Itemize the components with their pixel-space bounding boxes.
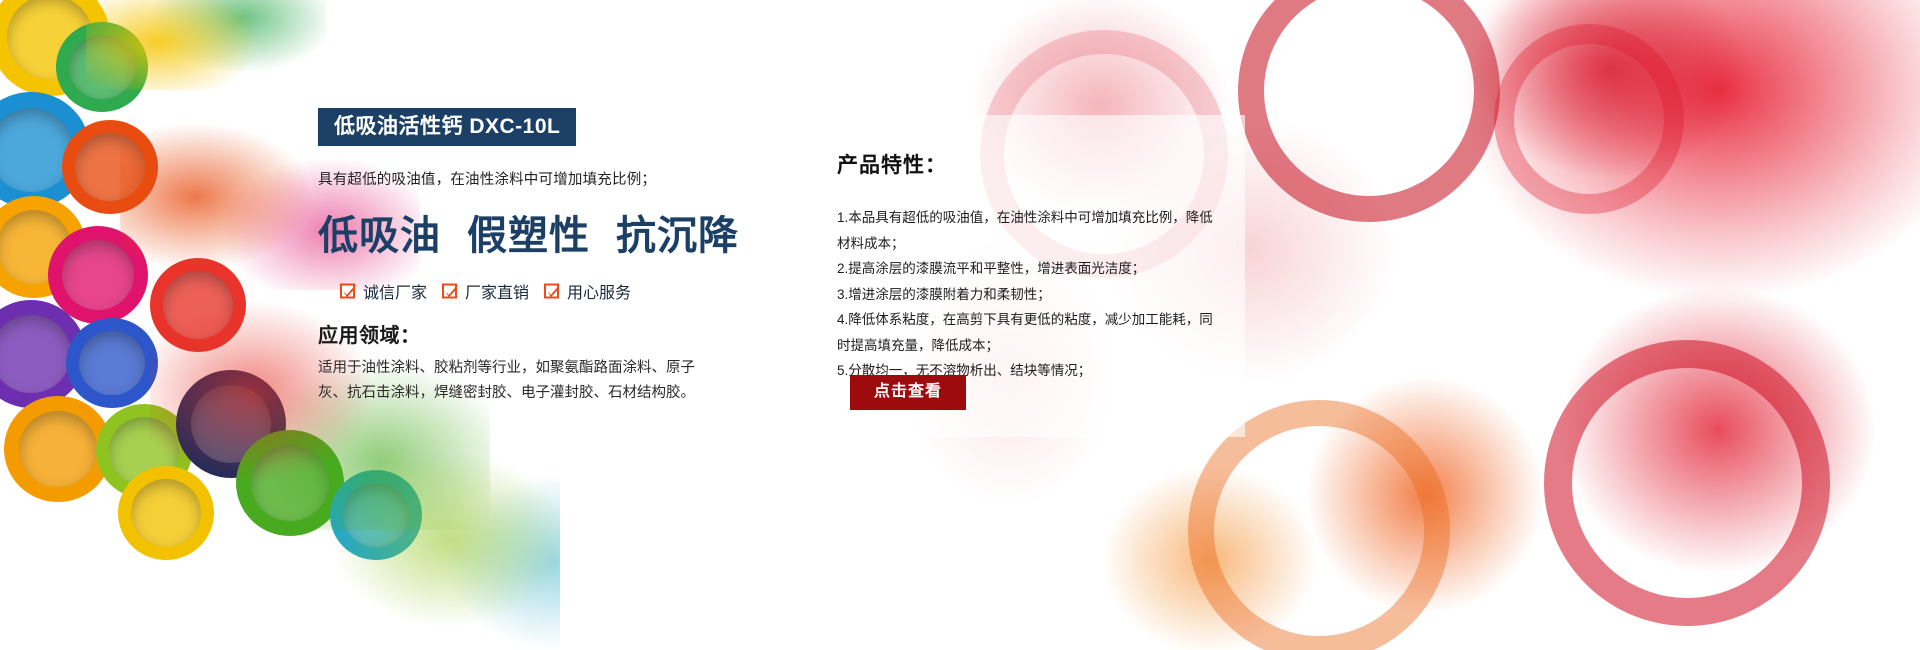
checkbox-checked-icon	[442, 283, 459, 300]
badge-item-3: 用心服务	[544, 279, 631, 303]
feature-item-4: 4.降低体系粘度，在高剪下具有更低的粘度，减少加工能耗，同时提高填充量，降低成本…	[837, 307, 1221, 358]
feature-item-1: 1.本品具有超低的吸油值，在油性涂料中可增加填充比例，降低材料成本；	[837, 205, 1221, 256]
keyword-3: 抗沉降	[616, 212, 739, 259]
product-banner: 低吸油活性钙 DXC-10L 具有超低的吸油值，在油性涂料中可增加填充比例； 低…	[0, 0, 1920, 650]
trust-badges: 诚信厂家 厂家直销 用心服务	[318, 279, 718, 303]
badge-label-2: 厂家直销	[465, 279, 529, 303]
banner-subtitle: 具有超低的吸油值，在油性涂料中可增加填充比例；	[318, 168, 718, 189]
badge-label-3: 用心服务	[567, 279, 631, 303]
feature-item-3: 3.增进涂层的漆膜附着力和柔韧性；	[837, 282, 1221, 308]
banner-text-block: 低吸油活性钙 DXC-10L 具有超低的吸油值，在油性涂料中可增加填充比例； 低…	[318, 108, 718, 406]
features-list: 1.本品具有超低的吸油值，在油性涂料中可增加填充比例，降低材料成本； 2.提高涂…	[837, 205, 1221, 384]
view-details-button[interactable]: 点击查看	[850, 375, 966, 410]
keyword-1: 低吸油	[318, 212, 441, 259]
checkbox-checked-icon	[544, 283, 561, 300]
feature-item-2: 2.提高涂层的漆膜流平和平整性，增进表面光洁度；	[837, 256, 1221, 282]
badge-label-1: 诚信厂家	[363, 279, 427, 303]
keyword-headline: 低吸油假塑性抗沉降	[318, 203, 718, 261]
application-description: 适用于油性涂料、胶粘剂等行业，如聚氨酯路面涂料、原子灰、抗石击涂料，焊缝密封胶、…	[318, 356, 718, 406]
keyword-2: 假塑性	[467, 212, 590, 259]
badge-item-1: 诚信厂家	[340, 279, 427, 303]
application-heading: 应用领域：	[318, 319, 718, 348]
features-title: 产品特性：	[837, 149, 1221, 179]
badge-item-2: 厂家直销	[442, 279, 529, 303]
product-title-tag: 低吸油活性钙 DXC-10L	[318, 108, 576, 146]
checkbox-checked-icon	[340, 283, 357, 300]
